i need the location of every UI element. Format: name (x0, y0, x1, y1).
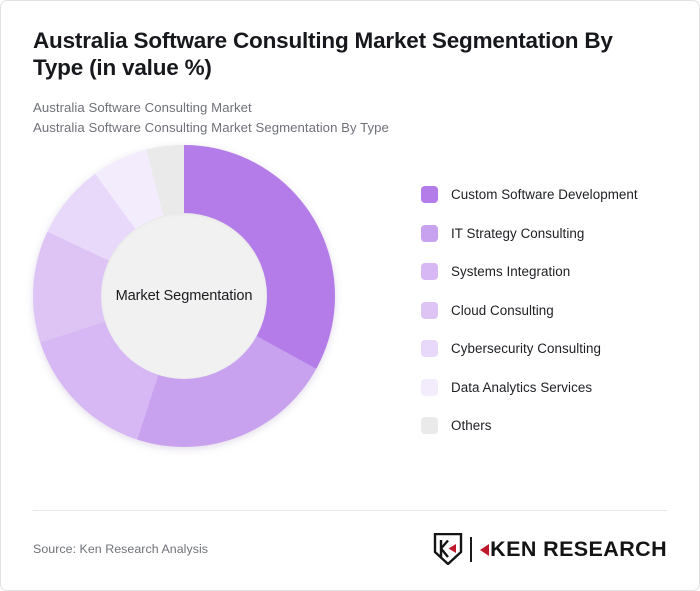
chart-legend: Custom Software DevelopmentIT Strategy C… (421, 175, 679, 445)
brand-arrow-icon (480, 544, 489, 556)
subtitle-line-2: Australia Software Consulting Market Seg… (33, 118, 667, 138)
legend-item-label: Data Analytics Services (451, 380, 592, 395)
legend-item-label: Cloud Consulting (451, 303, 554, 318)
donut-chart: Market Segmentation (33, 145, 335, 447)
donut-center-label: Market Segmentation (116, 288, 253, 304)
legend-swatch-icon (421, 417, 438, 434)
legend-item[interactable]: Data Analytics Services (421, 368, 679, 407)
legend-item[interactable]: Custom Software Development (421, 175, 679, 214)
chart-footer: Source: Ken Research Analysis KEN RESEAR… (33, 526, 667, 572)
source-text: Source: Ken Research Analysis (33, 542, 208, 556)
legend-swatch-icon (421, 186, 438, 203)
subtitle-line-1: Australia Software Consulting Market (33, 98, 667, 118)
chart-card: Australia Software Consulting Market Seg… (0, 0, 700, 591)
legend-swatch-icon (421, 379, 438, 396)
ken-research-shield-icon (433, 533, 463, 565)
legend-swatch-icon (421, 225, 438, 242)
legend-item[interactable]: IT Strategy Consulting (421, 214, 679, 253)
legend-item[interactable]: Others (421, 406, 679, 445)
brand-separator (470, 537, 472, 562)
brand-logo: KEN RESEARCH (433, 533, 667, 565)
brand-name: KEN RESEARCH (480, 537, 667, 562)
legend-item-label: Systems Integration (451, 264, 570, 279)
legend-item[interactable]: Systems Integration (421, 252, 679, 291)
donut-center: Market Segmentation (101, 213, 267, 379)
legend-swatch-icon (421, 340, 438, 357)
page-title: Australia Software Consulting Market Seg… (33, 27, 658, 82)
chart-body: Market Segmentation Custom Software Deve… (1, 145, 699, 475)
legend-item-label: Cybersecurity Consulting (451, 341, 601, 356)
breadcrumb: Australia Software Consulting Market Aus… (33, 98, 667, 138)
legend-item-label: IT Strategy Consulting (451, 226, 584, 241)
legend-item[interactable]: Cybersecurity Consulting (421, 329, 679, 368)
legend-swatch-icon (421, 302, 438, 319)
legend-item[interactable]: Cloud Consulting (421, 291, 679, 330)
legend-item-label: Others (451, 418, 492, 433)
brand-name-text: KEN RESEARCH (490, 537, 667, 562)
legend-item-label: Custom Software Development (451, 187, 638, 202)
footer-divider (33, 510, 667, 511)
chart-header: Australia Software Consulting Market Seg… (1, 1, 699, 137)
legend-swatch-icon (421, 263, 438, 280)
